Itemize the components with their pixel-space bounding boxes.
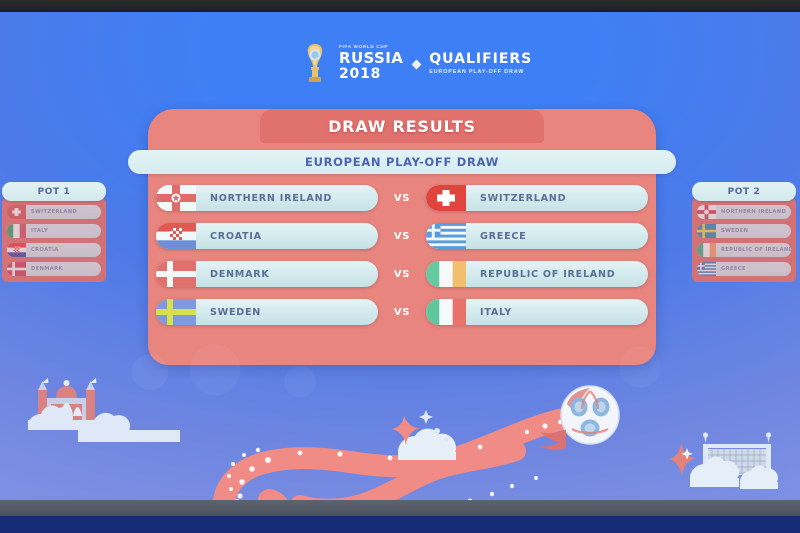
team-name: GREECE	[466, 231, 526, 242]
qualifiers-lockup: QUALIFIERS EUROPEAN PLAY-OFF DRAW	[429, 52, 532, 75]
pot-team-name: ITALY	[26, 228, 48, 234]
pot-team-name: CROATIA	[26, 247, 59, 253]
pot-1-panel: POT 1 SWITZERLAND ITALY	[2, 182, 106, 282]
pot-2-title: POT 2	[692, 182, 796, 201]
team-name: SWEDEN	[196, 307, 261, 318]
vs-label: VS	[378, 231, 426, 242]
draw-results-panel: DRAW RESULTS EUROPEAN PLAY-OFF DRAW NORT…	[148, 109, 656, 365]
flag-republic-of-ireland-icon	[426, 261, 466, 287]
home-team-card[interactable]: SWEDEN	[156, 299, 378, 325]
match-list: NORTHERN IRELAND VS SWITZERLAND	[156, 185, 648, 337]
pot-list-item[interactable]: REPUBLIC OF IRELAND	[697, 243, 791, 257]
pot-team-name: SWEDEN	[716, 228, 748, 234]
kremlin-castle-icon	[38, 378, 96, 426]
flag-croatia-icon	[156, 223, 196, 249]
year-label: 2018	[339, 67, 403, 81]
flag-northern-ireland-icon	[697, 205, 716, 219]
team-name: SWITZERLAND	[466, 193, 566, 204]
cloud-icon	[398, 429, 456, 460]
pot-2-list: NORTHERN IRELAND SWEDEN REPUBLIC OF IREL…	[692, 198, 796, 282]
screenshot-root: FIFA WORLD CUP RUSSIA 2018 QUALIFIERS EU…	[0, 0, 800, 533]
ribbon-trail-icon	[223, 416, 582, 501]
vs-label: VS	[378, 307, 426, 318]
sparkle-icon	[669, 443, 695, 476]
slide-header: FIFA WORLD CUP RUSSIA 2018 QUALIFIERS EU…	[300, 38, 520, 88]
sparkle-icon	[391, 416, 420, 445]
qualifiers-subtitle: EUROPEAN PLAY-OFF DRAW	[429, 69, 532, 75]
away-team-card[interactable]: SWITZERLAND	[426, 185, 648, 211]
flag-italy-icon	[426, 299, 466, 325]
flag-sweden-icon	[697, 224, 716, 238]
home-team-card[interactable]: CROATIA	[156, 223, 378, 249]
match-row: SWEDEN VS ITALY	[156, 299, 648, 325]
match-row: DENMARK VS REPUBLIC OF IRELAND	[156, 261, 648, 287]
pot-2-panel: POT 2 NORTHERN IRELAND SWEDEN	[692, 182, 796, 282]
team-name: DENMARK	[196, 269, 270, 280]
host-country-label: RUSSIA	[339, 51, 403, 66]
cloud-icon	[28, 406, 180, 442]
home-team-card[interactable]: NORTHERN IRELAND	[156, 185, 378, 211]
away-team-card[interactable]: GREECE	[426, 223, 648, 249]
projector-screen-bottom-bezel	[0, 500, 800, 516]
telstar-football-icon	[561, 386, 619, 444]
team-name: ITALY	[466, 307, 512, 318]
pot-team-name: GREECE	[716, 266, 746, 272]
qualifiers-title: QUALIFIERS	[429, 52, 532, 66]
vs-label: VS	[378, 193, 426, 204]
presentation-slide: FIFA WORLD CUP RUSSIA 2018 QUALIFIERS EU…	[0, 12, 800, 501]
flag-greece-icon	[697, 262, 716, 276]
pot-list-item[interactable]: SWITZERLAND	[7, 205, 101, 219]
team-name: REPUBLIC OF IRELAND	[466, 269, 615, 280]
flag-switzerland-icon	[7, 205, 26, 219]
stage-backdrop	[0, 516, 800, 533]
match-row: NORTHERN IRELAND VS SWITZERLAND	[156, 185, 648, 211]
home-team-card[interactable]: DENMARK	[156, 261, 378, 287]
team-name: CROATIA	[196, 231, 262, 242]
pot-team-name: NORTHERN IRELAND	[716, 209, 786, 215]
page-title: DRAW RESULTS	[260, 109, 544, 143]
pot-list-item[interactable]: NORTHERN IRELAND	[697, 205, 791, 219]
away-team-card[interactable]: REPUBLIC OF IRELAND	[426, 261, 648, 287]
world-cup-wordmark: FIFA WORLD CUP RUSSIA 2018	[339, 45, 403, 82]
pot-list-item[interactable]: CROATIA	[7, 243, 101, 257]
flag-croatia-icon	[7, 243, 26, 257]
panel-subtitle: EUROPEAN PLAY-OFF DRAW	[128, 150, 676, 174]
cloud-icon	[690, 457, 778, 489]
goal-net-icon	[669, 432, 771, 478]
pot-team-name: DENMARK	[26, 266, 63, 272]
pot-list-item[interactable]: SWEDEN	[697, 224, 791, 238]
ribbon-trail-icon	[539, 430, 566, 450]
pot-list-item[interactable]: DENMARK	[7, 262, 101, 276]
flag-greece-icon	[426, 223, 466, 249]
vs-label: VS	[378, 269, 426, 280]
team-name: NORTHERN IRELAND	[196, 193, 332, 204]
pot-team-name: REPUBLIC OF IRELAND	[716, 247, 791, 253]
pot-1-list: SWITZERLAND ITALY CROATIA	[2, 198, 106, 282]
flag-republic-of-ireland-icon	[697, 243, 716, 257]
fifa-world-cup-trophy-icon	[300, 42, 330, 84]
flag-italy-icon	[7, 224, 26, 238]
flag-switzerland-icon	[426, 185, 466, 211]
pot-list-item[interactable]: GREECE	[697, 262, 791, 276]
flag-denmark-icon	[156, 261, 196, 287]
match-row: CROATIA VS GREECE	[156, 223, 648, 249]
pot-1-title: POT 1	[2, 182, 106, 201]
pot-team-name: SWITZERLAND	[26, 209, 77, 215]
flag-northern-ireland-icon	[156, 185, 196, 211]
away-team-card[interactable]: ITALY	[426, 299, 648, 325]
flag-sweden-icon	[156, 299, 196, 325]
flag-denmark-icon	[7, 262, 26, 276]
pot-list-item[interactable]: ITALY	[7, 224, 101, 238]
